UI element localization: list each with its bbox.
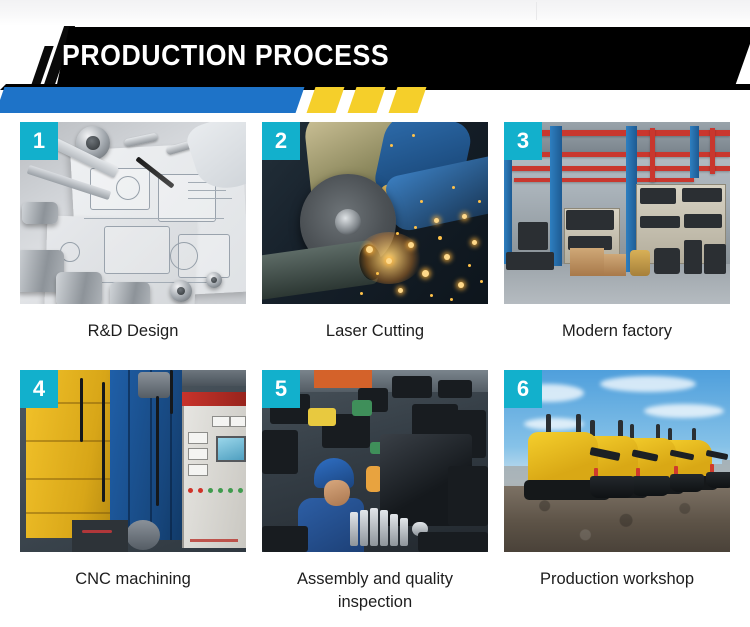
banner-blue-bar <box>0 87 304 113</box>
process-step-caption-2: Laser Cutting <box>262 320 488 342</box>
process-step-card-3[interactable]: 3 Modern factory <box>504 122 730 342</box>
step-number-badge-5: 5 <box>262 370 300 408</box>
top-hairline-divider <box>536 2 537 20</box>
process-step-card-1[interactable]: 1 R&D Design <box>20 122 246 342</box>
process-step-image-5[interactable]: 5 <box>262 370 488 552</box>
step-number-badge-1: 1 <box>20 122 58 160</box>
process-step-image-2[interactable]: 2 <box>262 122 488 304</box>
process-step-caption-5: Assembly and quality inspection <box>262 568 488 613</box>
process-step-card-2[interactable]: 2 Laser Cutting <box>262 122 488 342</box>
top-gradient-strip <box>0 0 750 26</box>
process-step-card-4[interactable]: 4 CNC machining <box>20 370 246 613</box>
banner-yellow-stripe-3 <box>389 87 427 113</box>
process-step-caption-6: Production workshop <box>504 568 730 590</box>
process-steps-row-1: 1 R&D Design <box>0 122 750 342</box>
banner-yellow-stripe-2 <box>348 87 386 113</box>
step-number-badge-4: 4 <box>20 370 58 408</box>
process-step-caption-4: CNC machining <box>20 568 246 590</box>
process-step-caption-3: Modern factory <box>504 320 730 342</box>
step-number-badge-3: 3 <box>504 122 542 160</box>
process-step-caption-1: R&D Design <box>20 320 246 342</box>
process-steps-grid: 1 R&D Design <box>0 122 750 613</box>
process-step-image-6[interactable]: 6 <box>504 370 730 552</box>
process-step-image-3[interactable]: 3 <box>504 122 730 304</box>
step-number-badge-2: 2 <box>262 122 300 160</box>
page-title: PRODUCTION PROCESS <box>62 42 389 71</box>
process-step-image-1[interactable]: 1 <box>20 122 246 304</box>
step-number-badge-6: 6 <box>504 370 542 408</box>
process-step-image-4[interactable]: 4 <box>20 370 246 552</box>
banner-yellow-stripe-1 <box>307 87 345 113</box>
process-step-card-6[interactable]: 6 Production workshop <box>504 370 730 613</box>
process-step-card-5[interactable]: 5 Assembly and quality inspection <box>262 370 488 613</box>
section-banner: PRODUCTION PROCESS <box>0 24 750 114</box>
process-steps-row-2: 4 CNC machining <box>0 370 750 613</box>
